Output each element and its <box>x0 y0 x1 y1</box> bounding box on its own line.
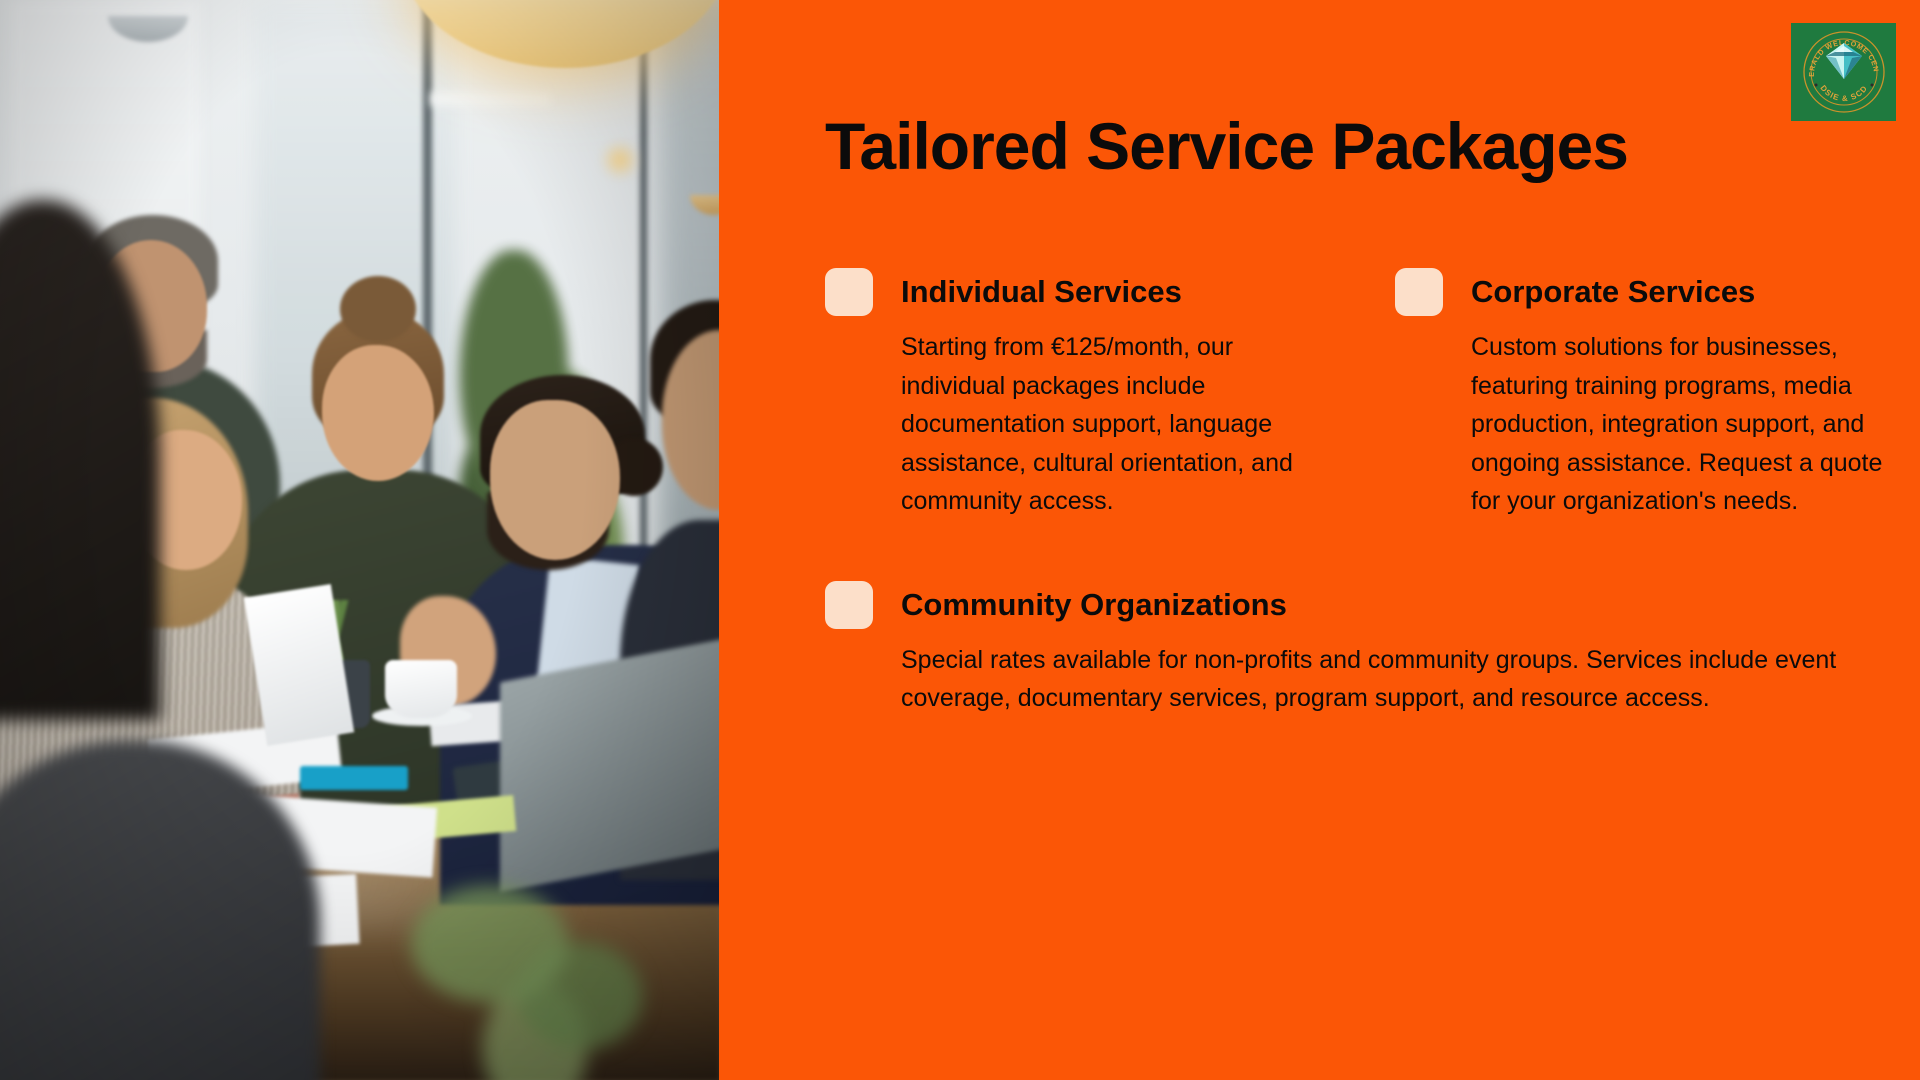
photo-scene <box>0 0 719 1080</box>
card-individual-services[interactable]: Individual Services Starting from €125/m… <box>825 268 1315 521</box>
card-body: Custom solutions for businesses, featuri… <box>1471 328 1885 521</box>
content-panel: EMERALD WELCOME CENTRE DSIE & SCD <box>719 0 1920 1080</box>
rounded-square-icon <box>1395 268 1443 316</box>
card-header: Community Organizations <box>825 581 1845 629</box>
card-community-organizations[interactable]: Community Organizations Special rates av… <box>825 581 1845 718</box>
cards-row-bottom: Community Organizations Special rates av… <box>825 581 1885 718</box>
service-cards: Individual Services Starting from €125/m… <box>825 268 1885 718</box>
card-title: Corporate Services <box>1471 274 1755 310</box>
card-body: Special rates available for non-profits … <box>901 641 1851 718</box>
slide-root: EMERALD WELCOME CENTRE DSIE & SCD <box>0 0 1920 1080</box>
card-header: Individual Services <box>825 268 1315 316</box>
rounded-square-icon <box>825 581 873 629</box>
cards-row-top: Individual Services Starting from €125/m… <box>825 268 1885 521</box>
card-title: Individual Services <box>901 274 1182 310</box>
rounded-square-icon <box>825 268 873 316</box>
card-header: Corporate Services <box>1395 268 1885 316</box>
card-corporate-services[interactable]: Corporate Services Custom solutions for … <box>1395 268 1885 521</box>
photo-vignette <box>0 0 719 1080</box>
page-title: Tailored Service Packages <box>825 110 1628 183</box>
emerald-welcome-centre-logo[interactable]: EMERALD WELCOME CENTRE DSIE & SCD <box>1791 23 1896 121</box>
card-body: Starting from €125/month, our individual… <box>901 328 1315 521</box>
card-title: Community Organizations <box>901 587 1287 623</box>
office-meeting-photo <box>0 0 719 1080</box>
